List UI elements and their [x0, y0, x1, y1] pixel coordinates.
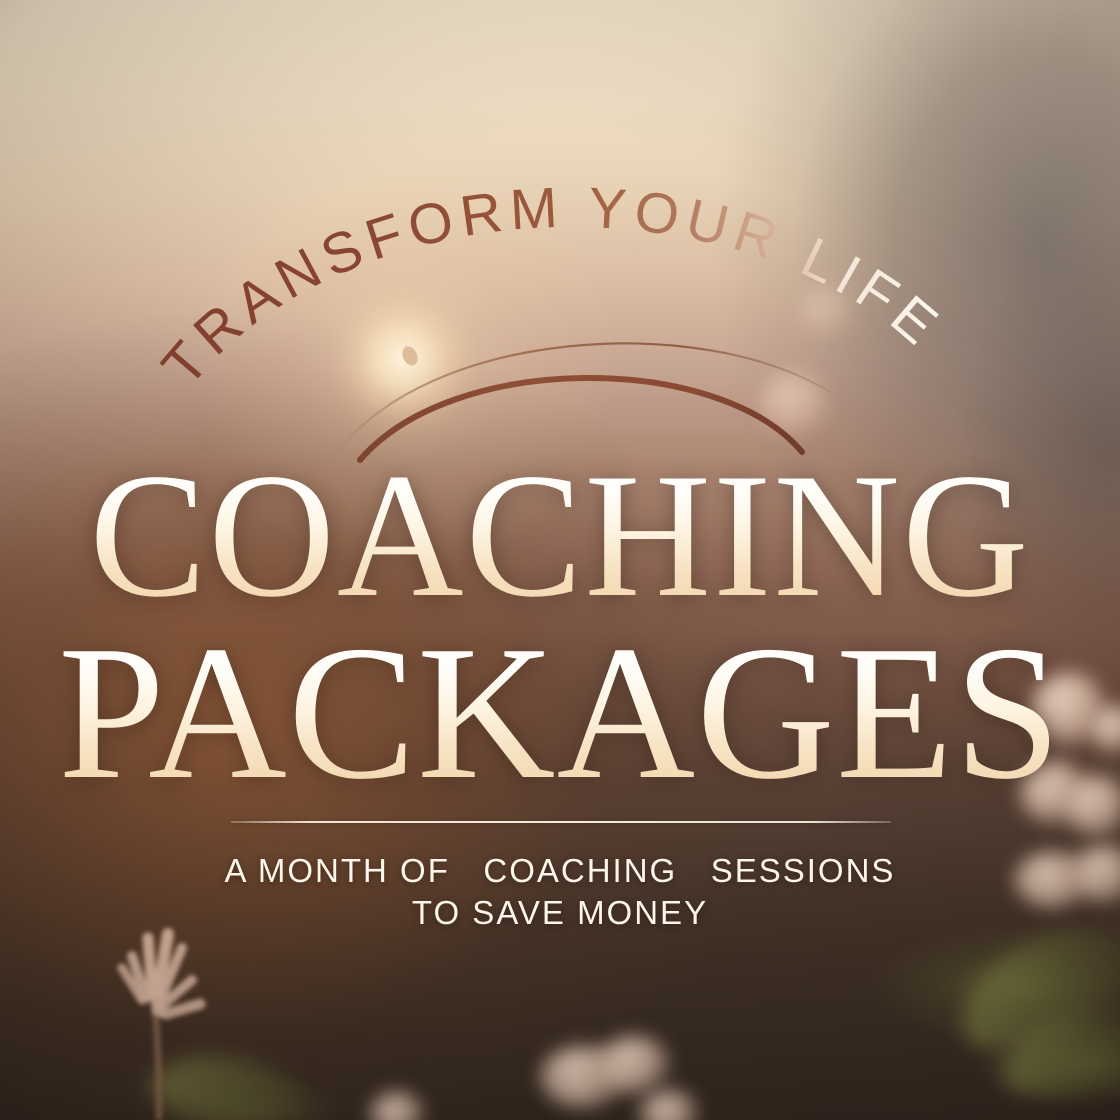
bokeh-highlight — [760, 372, 826, 434]
bokeh-blossom — [598, 1036, 670, 1094]
bokeh-highlight — [800, 286, 852, 336]
subtitle-line-2: TO SAVE MONEY — [0, 892, 1120, 934]
bud-icon — [400, 344, 421, 368]
title-line-packages: PACKAGES — [0, 623, 1120, 803]
title-line-coaching: COACHING — [8, 452, 1111, 619]
leaf-blade — [146, 1047, 314, 1120]
subtitle-line-1: A MONTH OF COACHING SESSIONS — [0, 850, 1120, 892]
bokeh-blossom — [370, 1092, 424, 1120]
title-block: COACHING PACKAGES — [0, 452, 1120, 804]
subtitle-block: A MONTH OF COACHING SESSIONS TO SAVE MON… — [0, 850, 1120, 934]
bokeh-blossom — [640, 1090, 698, 1120]
divider-rule — [231, 821, 891, 823]
poster-canvas: TRANSFORM YOUR LIFE COACHING PACKAGES A … — [0, 0, 1120, 1120]
